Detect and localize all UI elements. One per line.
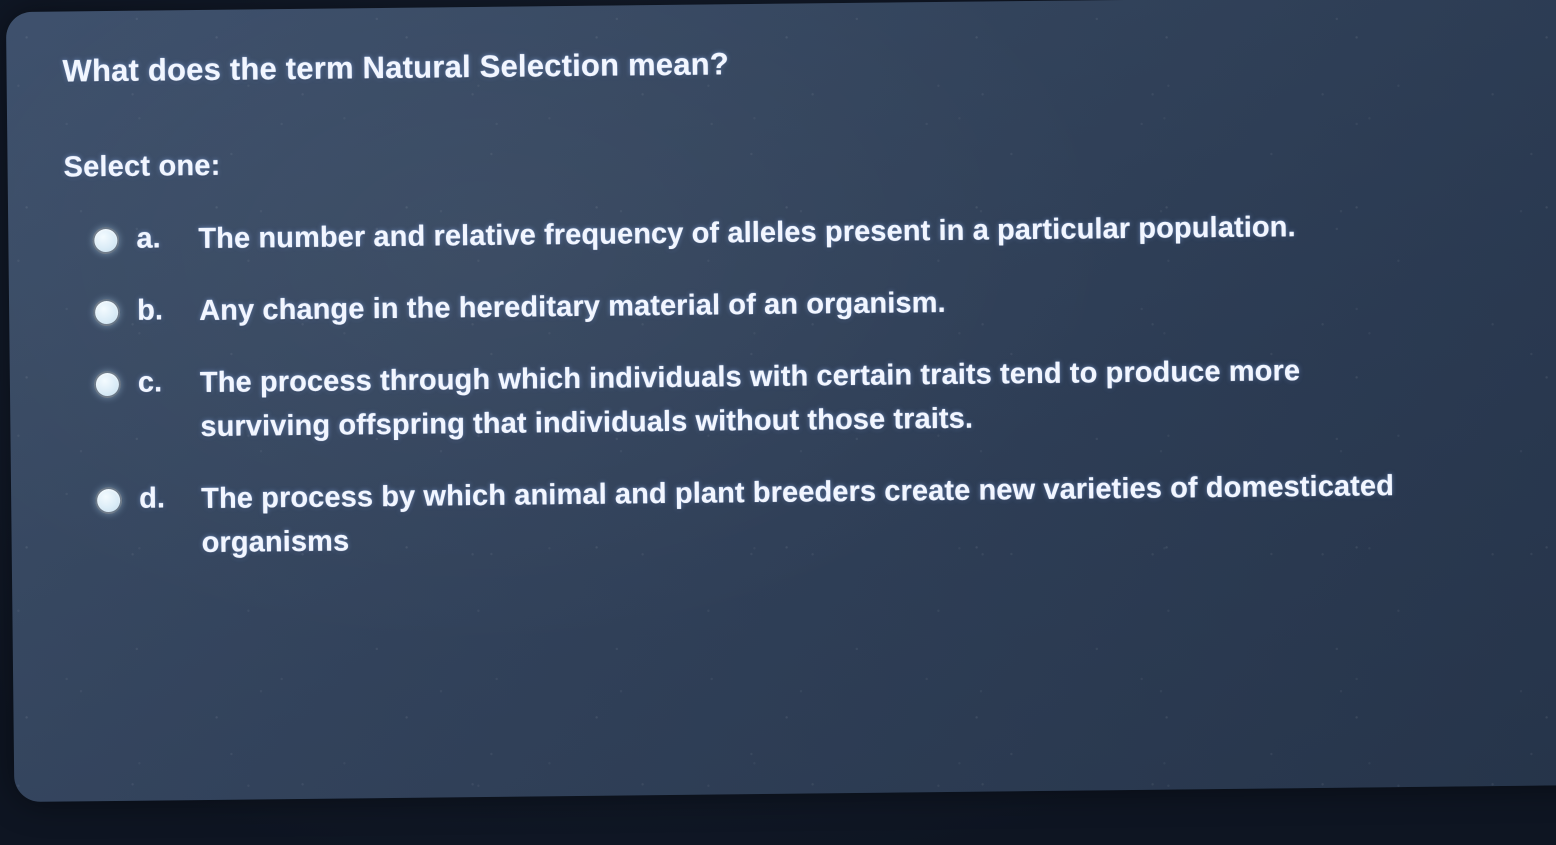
answer-options-list: a. The number and relative frequency of … xyxy=(64,202,1556,567)
radio-button-icon[interactable] xyxy=(95,487,122,514)
option-letter: b. xyxy=(137,289,199,333)
question-card: What does the term Natural Selection mea… xyxy=(6,0,1556,802)
answer-option-a[interactable]: a. The number and relative frequency of … xyxy=(92,202,1556,262)
option-text: The number and relative frequency of all… xyxy=(198,203,1483,261)
option-letter: d. xyxy=(139,477,201,521)
answer-option-d[interactable]: d. The process by which animal and plant… xyxy=(95,462,1556,566)
select-one-label: Select one: xyxy=(63,135,1556,184)
question-stem: What does the term Natural Selection mea… xyxy=(62,37,1556,89)
option-text: The process through which individuals wi… xyxy=(200,347,1486,449)
screen-photo: What does the term Natural Selection mea… xyxy=(0,0,1556,845)
option-letter: c. xyxy=(138,361,200,405)
answer-option-c[interactable]: c. The process through which individuals… xyxy=(94,346,1556,450)
option-text: The process by which animal and plant br… xyxy=(201,463,1487,565)
answer-option-b[interactable]: b. Any change in the hereditary material… xyxy=(93,274,1556,334)
option-text: Any change in the hereditary material of… xyxy=(199,275,1484,333)
radio-button-icon[interactable] xyxy=(93,299,120,326)
radio-button-icon[interactable] xyxy=(92,227,119,254)
radio-button-icon[interactable] xyxy=(94,371,121,398)
option-letter: a. xyxy=(136,217,198,261)
